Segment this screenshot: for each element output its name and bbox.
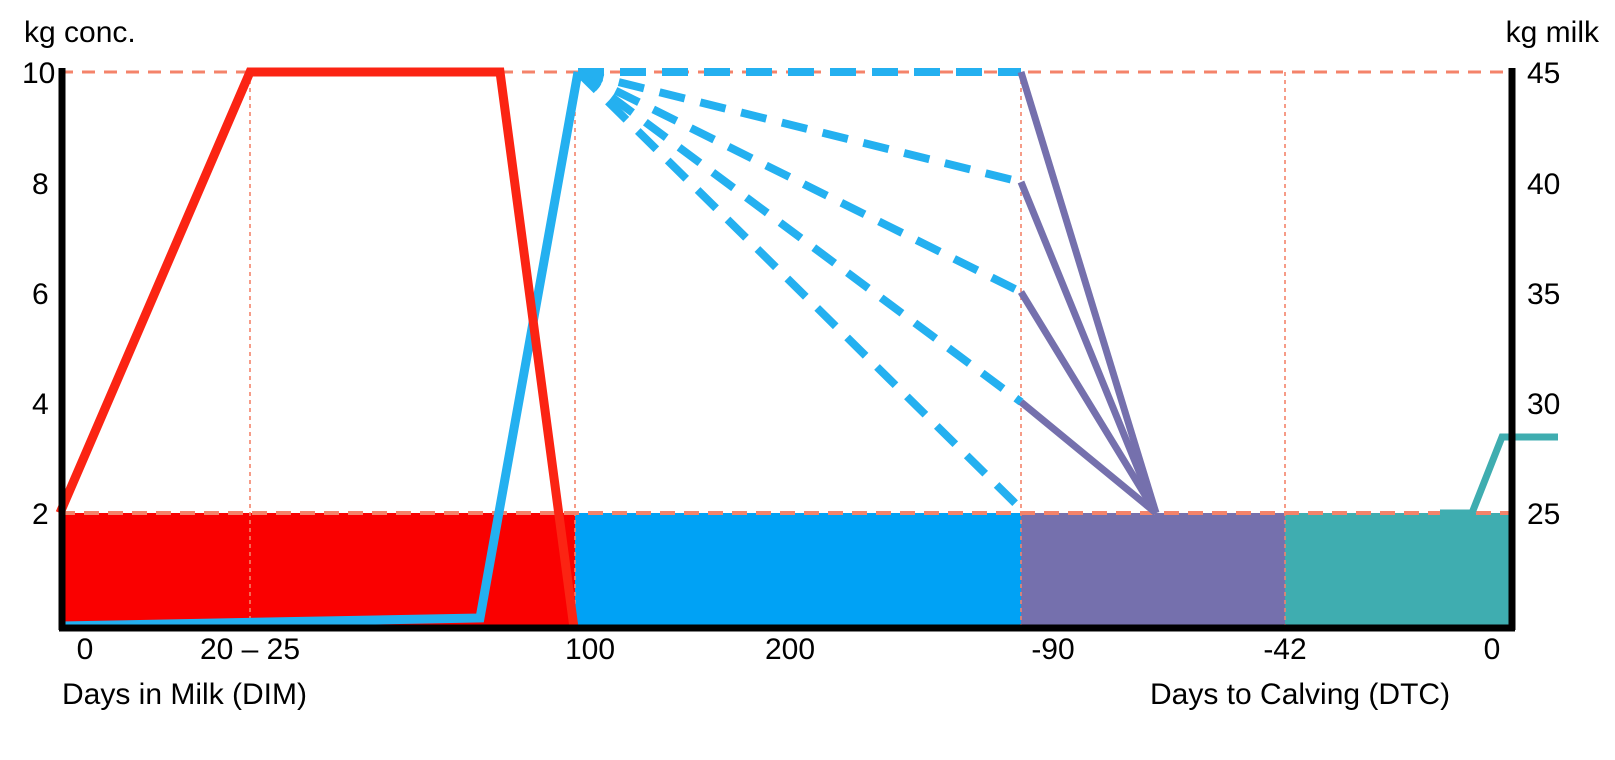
milk-decline-line-35 bbox=[578, 72, 1021, 292]
chart-plot-area bbox=[0, 0, 1615, 760]
milk-decline-line-40 bbox=[578, 72, 1021, 182]
chart-root: kg conc. kg milk 10 8 6 4 2 45 40 35 30 … bbox=[0, 0, 1615, 760]
shaded-band-7d-yield bbox=[575, 513, 1021, 627]
dryoff-convergence-lines bbox=[1021, 72, 1156, 513]
horizontal-grid-lines bbox=[60, 72, 1512, 513]
milk-decline-line-30 bbox=[578, 72, 1021, 402]
milk-decline-line-25 bbox=[578, 72, 1021, 509]
shaded-band-dtc-dryoff bbox=[1021, 513, 1285, 627]
dryoff-line-from-40 bbox=[1021, 182, 1156, 513]
dryoff-line-from-45 bbox=[1021, 72, 1156, 513]
shaded-band-dtc-precalving bbox=[1285, 513, 1512, 627]
shaded-bands bbox=[60, 513, 1512, 627]
milk-yield-decline-fan bbox=[578, 72, 1021, 509]
dryoff-line-from-35 bbox=[1021, 292, 1156, 513]
precalving-concentrate-line bbox=[1440, 437, 1558, 513]
